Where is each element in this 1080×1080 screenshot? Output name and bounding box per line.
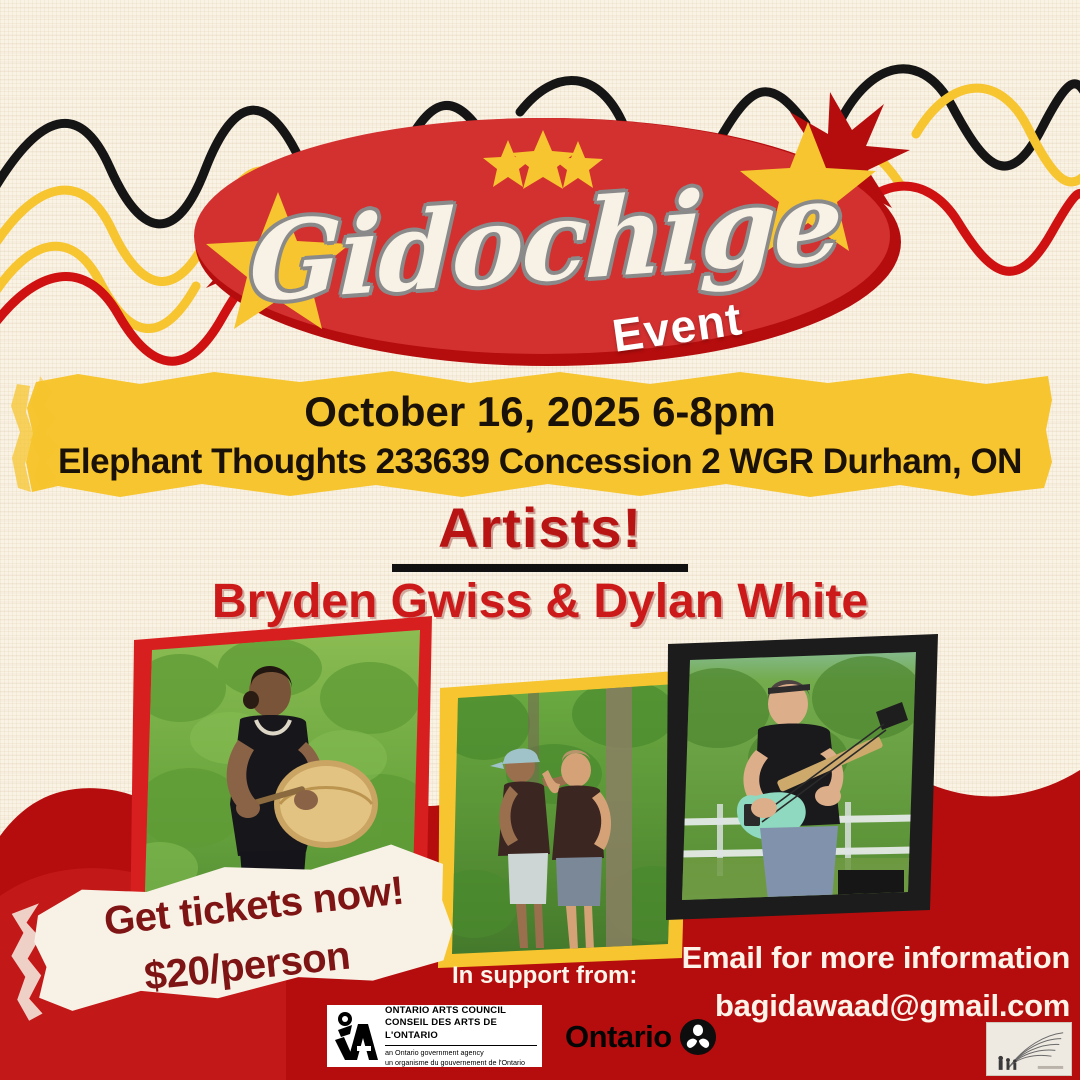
ontario-wordmark: Ontario	[565, 1019, 672, 1055]
oac-mark-icon	[332, 1010, 380, 1062]
ontario-arts-council-logo: ONTARIO ARTS COUNCIL CONSEIL DES ARTS DE…	[327, 1005, 542, 1067]
event-poster: Gidochige Event October 16, 2025 6-8pm E…	[0, 0, 1080, 1080]
support-label: In support from:	[452, 962, 637, 990]
oac-sub-en: an Ontario government agency	[385, 1048, 537, 1058]
contact-block: Email for more information bagidawaad@gm…	[660, 940, 1070, 1024]
partner-logo	[986, 1022, 1072, 1076]
partner-fan-icon	[987, 1023, 1071, 1076]
oac-name-en: ONTARIO ARTS COUNCIL	[385, 1005, 537, 1018]
contact-prompt: Email for more information	[660, 940, 1070, 976]
oac-text: ONTARIO ARTS COUNCIL CONSEIL DES ARTS DE…	[385, 1005, 537, 1068]
trillium-icon	[679, 1018, 717, 1056]
oac-name-fr: CONSEIL DES ARTS DE L'ONTARIO	[385, 1017, 537, 1043]
oac-sub-fr: un organisme du gouvernement de l'Ontari…	[385, 1058, 537, 1068]
oac-divider	[385, 1045, 537, 1046]
contact-email[interactable]: bagidawaad@gmail.com	[660, 988, 1070, 1024]
ontario-government-logo: Ontario	[565, 1018, 717, 1056]
